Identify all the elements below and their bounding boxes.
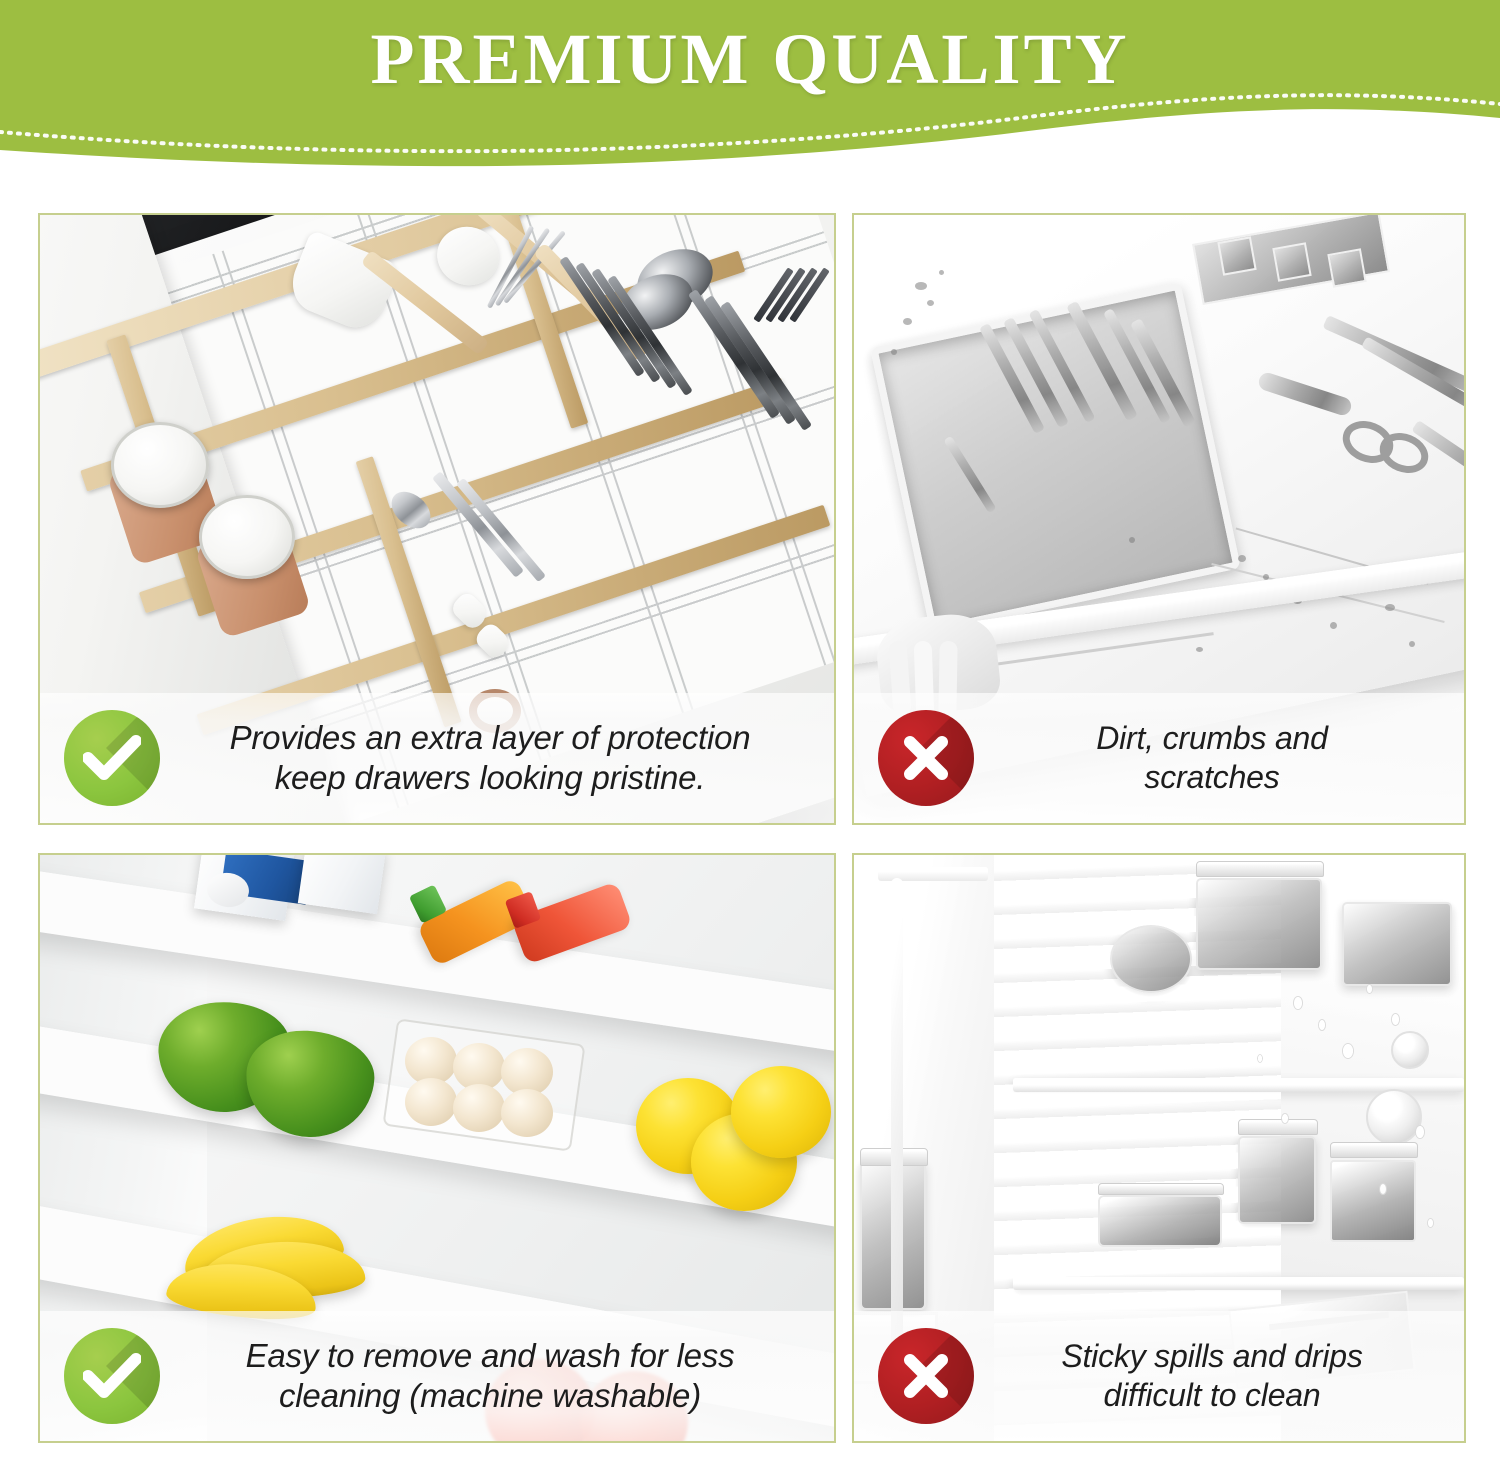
header-banner: PREMIUM QUALITY: [0, 0, 1500, 190]
caption-text: Dirt, crumbs and scratches: [974, 719, 1464, 797]
caption-line-1: Sticky spills and drips: [988, 1337, 1436, 1376]
caption-text: Easy to remove and wash for less cleanin…: [160, 1336, 834, 1417]
caption-bar-dirty-fridge: Sticky spills and drips difficult to cle…: [854, 1311, 1464, 1441]
caption-bar-dirty-drawer: Dirt, crumbs and scratches: [854, 693, 1464, 823]
caption-line-2: keep drawers looking pristine.: [174, 758, 806, 798]
panel-dirty-fridge: Sticky spills and drips difficult to cle…: [852, 853, 1466, 1443]
page-title: PREMIUM QUALITY: [0, 18, 1500, 101]
check-glyph: [83, 1353, 141, 1399]
caption-line-2: scratches: [988, 758, 1436, 797]
caption-text: Provides an extra layer of protection ke…: [160, 718, 834, 799]
panel-drawer-organizer: Provides an extra layer of protection ke…: [38, 213, 836, 825]
check-icon: [64, 710, 160, 806]
caption-line-1: Provides an extra layer of protection: [174, 718, 806, 758]
cross-icon: [878, 710, 974, 806]
caption-line-1: Easy to remove and wash for less: [174, 1336, 806, 1376]
cross-glyph: [901, 733, 951, 783]
check-icon: [64, 1328, 160, 1424]
panel-dirty-drawer: Dirt, crumbs and scratches: [852, 213, 1466, 825]
cross-glyph: [901, 1351, 951, 1401]
caption-text: Sticky spills and drips difficult to cle…: [974, 1337, 1464, 1415]
check-glyph: [83, 735, 141, 781]
comparison-grid: Provides an extra layer of protection ke…: [38, 213, 1466, 1443]
caption-line-2: cleaning (machine washable): [174, 1376, 806, 1416]
caption-line-2: difficult to clean: [988, 1376, 1436, 1415]
caption-bar-drawer-organizer: Provides an extra layer of protection ke…: [40, 693, 834, 823]
caption-bar-fridge-shelves: Easy to remove and wash for less cleanin…: [40, 1311, 834, 1441]
cross-icon: [878, 1328, 974, 1424]
caption-line-1: Dirt, crumbs and: [988, 719, 1436, 758]
panel-fridge-shelves: Easy to remove and wash for less cleanin…: [38, 853, 836, 1443]
